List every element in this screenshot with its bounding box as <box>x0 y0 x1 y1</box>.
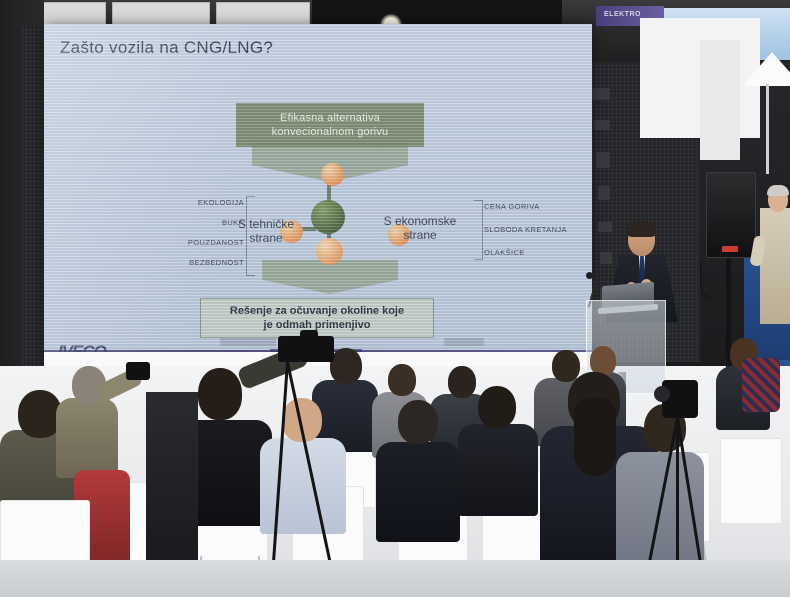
canopy-pole <box>766 84 769 174</box>
audience-torso <box>260 438 346 534</box>
foreground-woman-hair <box>574 398 616 476</box>
audience-torso <box>458 424 538 516</box>
wall-plate <box>600 252 612 264</box>
branch-label-economic-line1: S ekonomske <box>378 214 462 228</box>
wall-plate <box>598 222 612 232</box>
wall-plate <box>594 120 610 130</box>
bystander-figure <box>760 208 790 324</box>
list-item: CENA GORIVA <box>484 202 584 211</box>
audience-head <box>448 366 476 398</box>
speaker-brand-logo <box>722 246 738 252</box>
wall-plate <box>592 88 610 100</box>
branch-label-economic: S ekonomske strane <box>378 214 462 242</box>
microphone-head <box>586 272 593 279</box>
projection-screen: Zašto vozila na CNG/LNG? Efikasna altern… <box>44 24 592 374</box>
economic-benefit-list: CENA GORIVA SLOBODA KRETANJA OLAKŠICE <box>484 202 584 271</box>
speaker-cable <box>700 262 716 300</box>
audience-head <box>330 348 362 384</box>
list-item: SLOBODA KRETANJA <box>484 225 584 234</box>
booth-column <box>700 40 740 160</box>
camera-lens <box>654 386 670 402</box>
screen-glare <box>44 24 373 374</box>
audience-torso <box>56 398 118 478</box>
chair <box>720 438 782 524</box>
audience-head <box>388 364 416 396</box>
conference-photo-scene: ELEKTRO Zašto vozila na CNG/LNG? Efikasn… <box>0 0 790 597</box>
wall-plate <box>596 152 610 168</box>
footer-chip <box>444 338 484 346</box>
bracket-right <box>474 200 483 260</box>
list-item: OLAKŠICE <box>484 248 584 257</box>
camera-operator-head <box>198 368 242 420</box>
audience-head <box>552 350 580 382</box>
booth-banner-text: ELEKTRO <box>596 6 664 18</box>
branch-label-economic-line2: strane <box>378 228 462 242</box>
audience-torso <box>376 442 460 542</box>
audience-plaid-coat <box>742 358 780 412</box>
audience-head <box>398 400 438 444</box>
wall-plate <box>598 186 610 200</box>
audience-head <box>478 386 516 428</box>
compact-camera <box>126 362 150 380</box>
foreground-floor <box>0 560 790 597</box>
presenter-hair <box>627 221 656 237</box>
camera-viewfinder <box>300 330 318 340</box>
bystander-hair <box>767 185 789 196</box>
